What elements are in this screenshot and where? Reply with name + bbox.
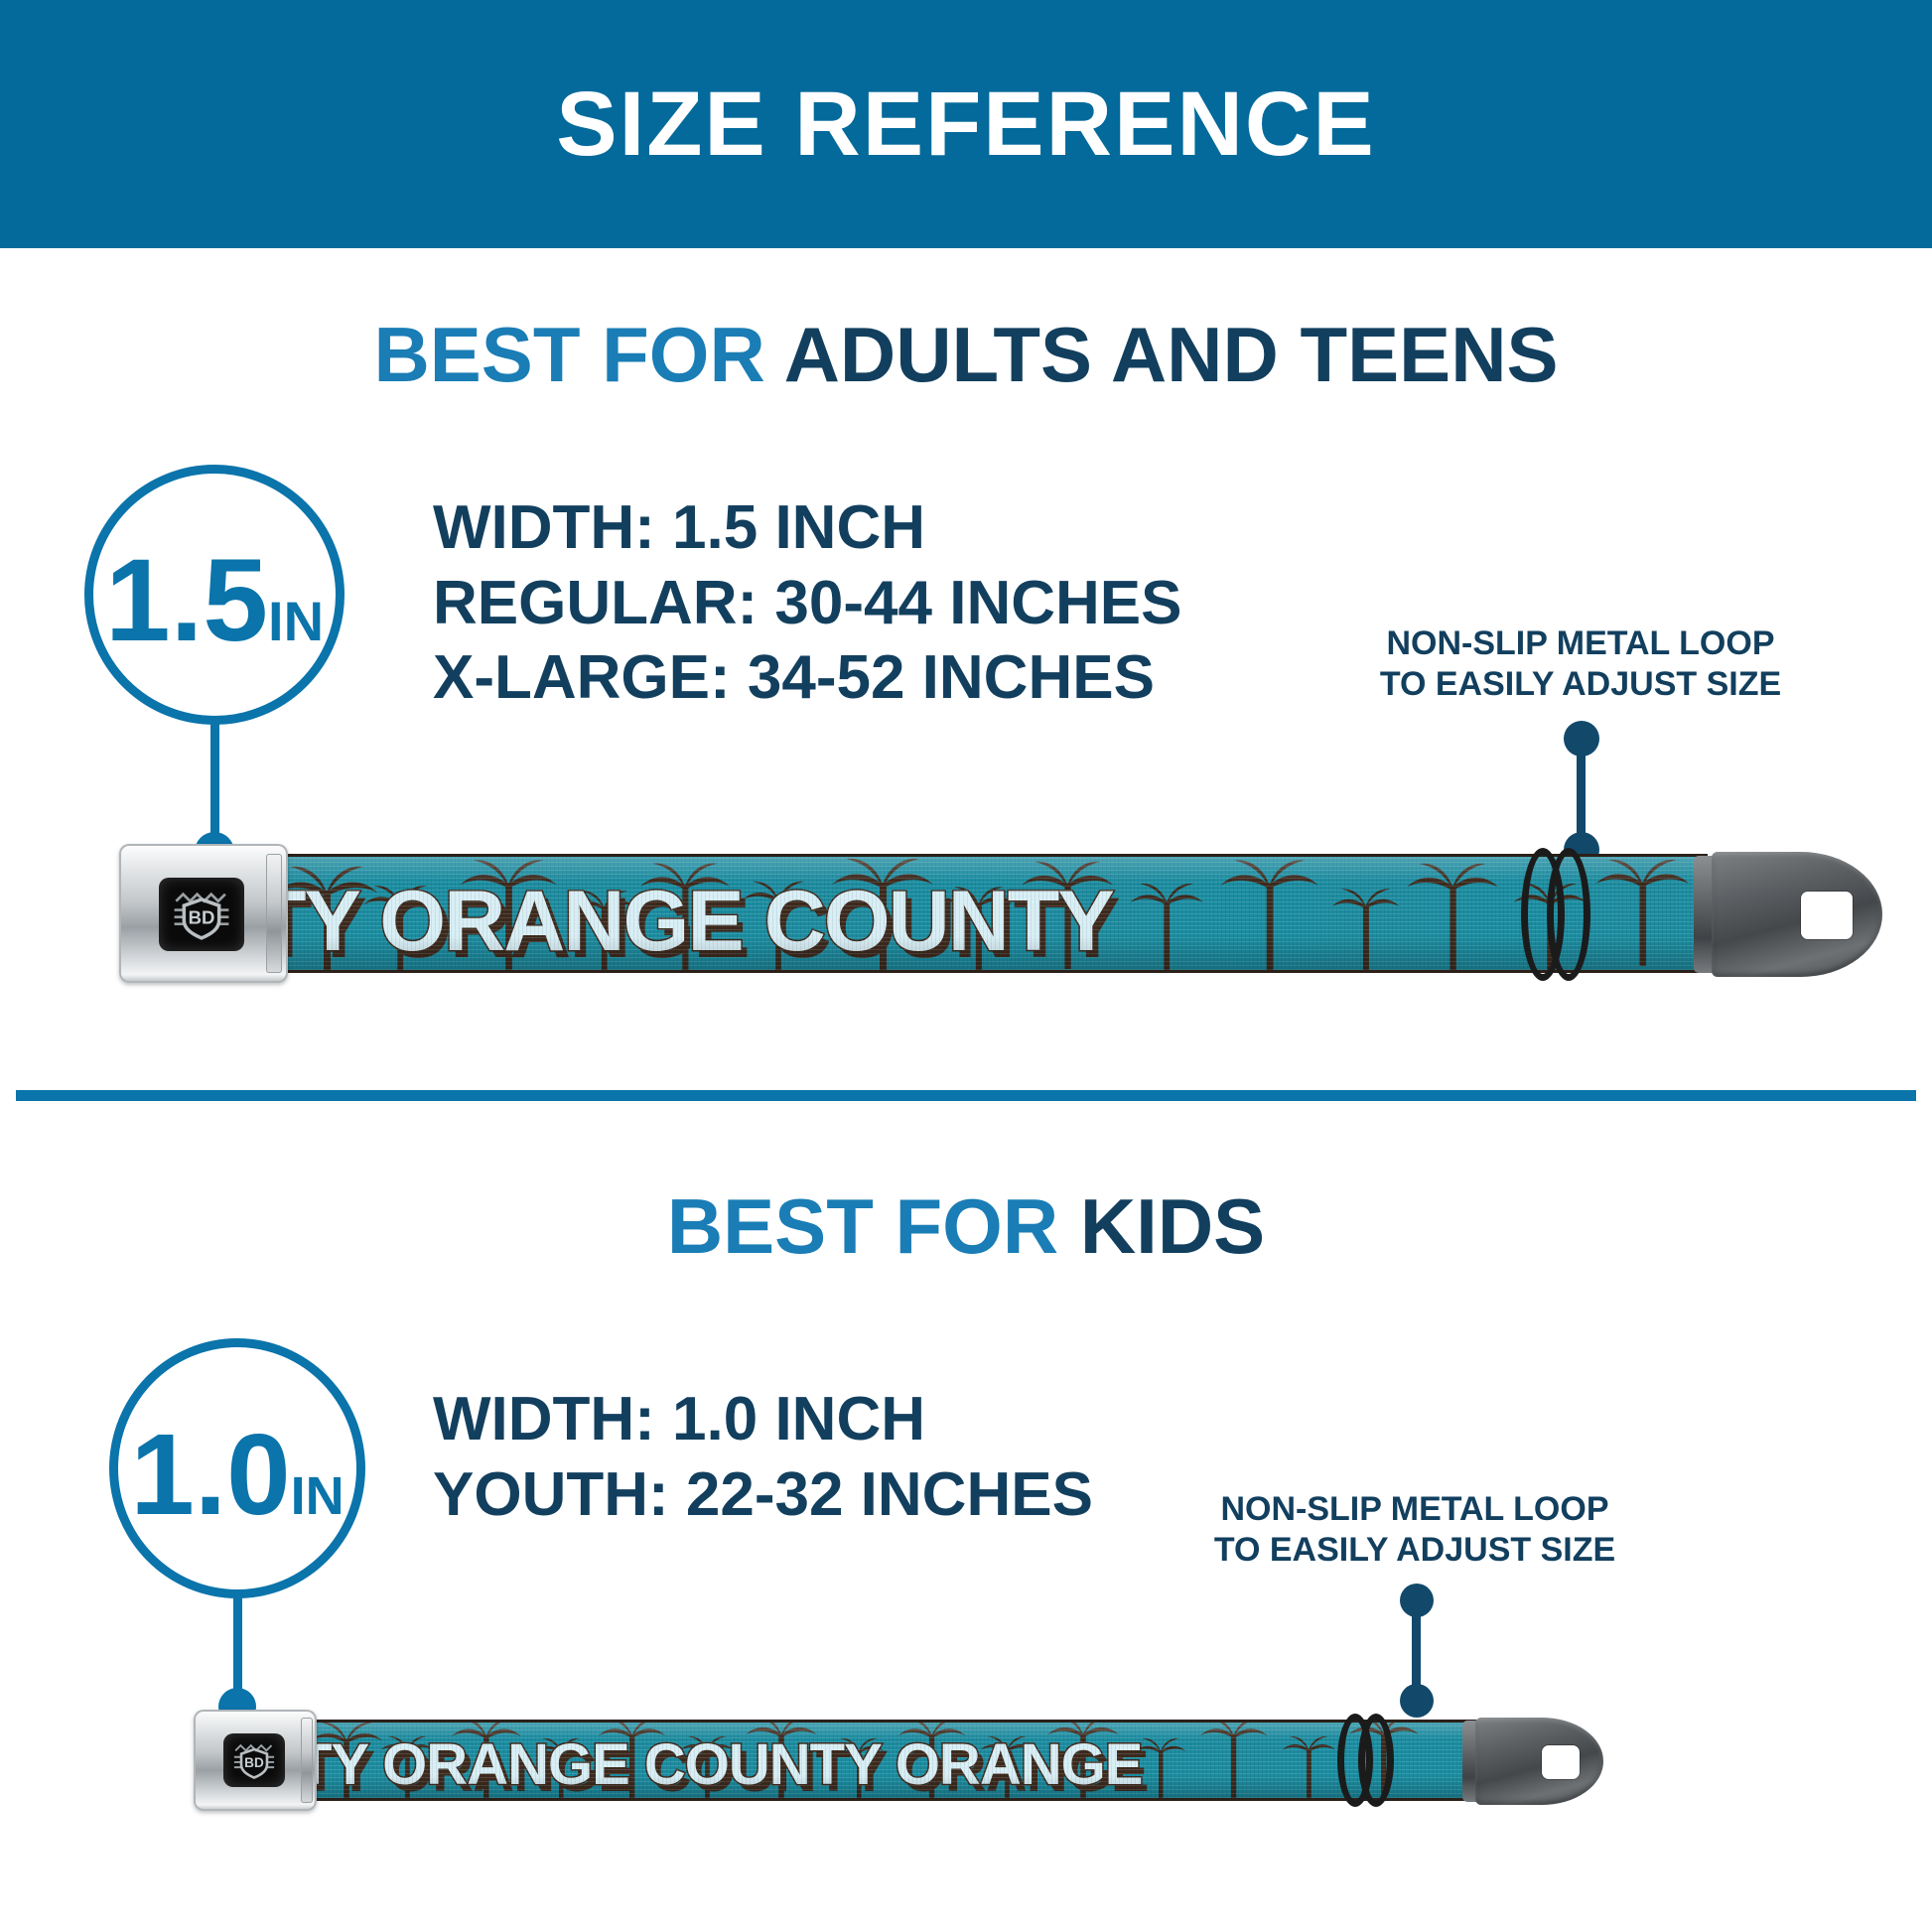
- section-heading-kids-prefix: BEST FOR: [667, 1182, 1080, 1270]
- metal-end-tongue-kids: [1462, 1718, 1603, 1805]
- size-badge-kids-unit: IN: [291, 1469, 345, 1523]
- buckle-side-tab: [301, 1718, 313, 1803]
- page-title: SIZE REFERENCE: [556, 78, 1375, 170]
- loop-ring-right: [1547, 848, 1590, 981]
- belt-strap-text-adults: TY ORANGE COUNTY: [268, 879, 1113, 964]
- callout-kids-line1: NON-SLIP METAL LOOP: [1201, 1489, 1628, 1530]
- section-heading-adults-emphasis: ADULTS AND TEENS: [784, 311, 1559, 398]
- callout-adults-line1: NON-SLIP METAL LOOP: [1350, 623, 1811, 664]
- specs-kids: WIDTH: 1.0 INCH YOUTH: 22-32 INCHES: [433, 1382, 1093, 1532]
- metal-adjuster-loop-kids: [1337, 1714, 1395, 1807]
- seatbelt-buckle-adults: BD: [119, 844, 288, 983]
- buckle-logo-text: BD: [189, 907, 215, 928]
- spec-line-width-adults: WIDTH: 1.5 INCH: [433, 490, 1181, 566]
- callout-kids: NON-SLIP METAL LOOP TO EASILY ADJUST SIZ…: [1201, 1489, 1628, 1571]
- tongue-hole: [1542, 1745, 1580, 1779]
- belt-kids: TY ORANGE COUNTY ORANGE BD: [194, 1710, 1603, 1839]
- section-heading-kids: BEST FOR KIDS: [0, 1187, 1932, 1265]
- belt-strap-text-kids: TY ORANGE COUNTY ORANGE: [305, 1736, 1142, 1794]
- section-divider: [16, 1090, 1916, 1101]
- buckle-side-tab: [266, 854, 282, 973]
- badge-leader-line-adults: [210, 721, 219, 848]
- size-badge-adults: 1.5 IN: [84, 465, 345, 725]
- tongue-metal-body: [1712, 852, 1882, 977]
- loop-ring-right: [1358, 1714, 1394, 1807]
- metal-adjuster-loop-adults: [1521, 848, 1592, 981]
- tongue-metal-body: [1475, 1718, 1603, 1805]
- size-badge-adults-unit: IN: [268, 594, 324, 649]
- metal-end-tongue-adults: [1694, 852, 1882, 977]
- spec-line-xlarge-adults: X-LARGE: 34-52 INCHES: [433, 640, 1181, 716]
- section-heading-kids-emphasis: KIDS: [1080, 1182, 1265, 1270]
- size-badge-kids-number: 1.0: [130, 1417, 290, 1532]
- tongue-hole: [1801, 892, 1853, 939]
- header-banner: SIZE REFERENCE: [0, 0, 1932, 248]
- callout-line-adults: [1577, 735, 1586, 848]
- seatbelt-buckle-kids: BD: [194, 1710, 317, 1811]
- section-heading-adults-prefix: BEST FOR: [373, 311, 783, 398]
- belt-strap-adults: TY ORANGE COUNTY: [268, 854, 1708, 973]
- specs-adults: WIDTH: 1.5 INCH REGULAR: 30-44 INCHES X-…: [433, 490, 1181, 716]
- belt-adults: TY ORANGE COUNTY BD: [119, 844, 1807, 1023]
- spec-line-width-kids: WIDTH: 1.0 INCH: [433, 1382, 1093, 1457]
- belt-strap-kids: TY ORANGE COUNTY ORANGE: [305, 1720, 1476, 1801]
- buckle-logo-plate: BD: [223, 1733, 285, 1787]
- spec-line-regular-adults: REGULAR: 30-44 INCHES: [433, 566, 1181, 641]
- size-reference-infographic: SIZE REFERENCE BEST FOR ADULTS AND TEENS…: [0, 0, 1932, 1932]
- spec-line-youth-kids: YOUTH: 22-32 INCHES: [433, 1457, 1093, 1533]
- buckle-logo-plate: BD: [159, 878, 244, 951]
- buckle-logo-text: BD: [244, 1755, 264, 1770]
- callout-adults: NON-SLIP METAL LOOP TO EASILY ADJUST SIZ…: [1350, 623, 1811, 705]
- bd-shield-logo-icon: BD: [164, 882, 239, 947]
- callout-adults-line2: TO EASILY ADJUST SIZE: [1350, 664, 1811, 705]
- callout-kids-line2: TO EASILY ADJUST SIZE: [1201, 1530, 1628, 1571]
- bd-shield-logo-icon: BD: [226, 1736, 282, 1784]
- size-badge-adults-number: 1.5: [105, 542, 268, 659]
- section-heading-adults: BEST FOR ADULTS AND TEENS: [0, 316, 1932, 393]
- size-badge-kids: 1.0 IN: [109, 1338, 365, 1598]
